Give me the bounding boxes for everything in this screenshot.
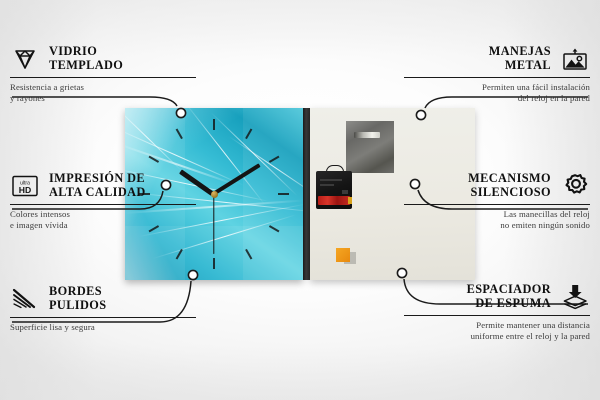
polished-edges-icon	[10, 284, 40, 314]
feature-title: IMPRESIÓN DE ALTA CALIDAD	[49, 172, 196, 199]
feature-divider	[404, 204, 590, 205]
feature-impresion-alta-calidad: ultra HD IMPRESIÓN DE ALTA CALIDAD Color…	[10, 171, 196, 230]
feature-description: Colores intensos e imagen vívida	[10, 209, 196, 230]
feature-description: Las manecillas del reloj no emiten ningú…	[404, 209, 590, 230]
feature-espaciador-espuma: ESPACIADOR DE ESPUMA Permite mantener un…	[404, 282, 590, 341]
feature-description: Permite mantener una distancia uniforme …	[404, 320, 590, 341]
svg-text:HD: HD	[19, 185, 31, 195]
diamond-icon	[10, 44, 40, 74]
gear-icon	[560, 171, 590, 201]
feature-divider	[10, 317, 196, 318]
feature-mecanismo-silencioso: MECANISMO SILENCIOSO Las manecillas del …	[404, 171, 590, 230]
feature-divider	[404, 315, 590, 316]
feature-title: MANEJAS METAL	[404, 45, 551, 72]
feature-title: MECANISMO SILENCIOSO	[404, 172, 551, 199]
feature-title: ESPACIADOR DE ESPUMA	[404, 283, 551, 310]
feature-manejas-metal: MANEJAS METAL Permiten una fácil instala…	[404, 44, 590, 103]
feature-vidrio-templado: VIDRIO TEMPLADO Resistencia a grietas y …	[10, 44, 196, 103]
picture-hanger-icon	[560, 44, 590, 74]
feature-divider	[10, 77, 196, 78]
connector-dot-vidrio-templado	[176, 108, 185, 117]
connector-dot-espaciador	[397, 268, 406, 277]
foam-spacer-icon	[560, 282, 590, 312]
connector-dot-manejas-metal	[416, 110, 425, 119]
feature-description: Superficie lisa y segura	[10, 322, 196, 332]
feature-divider	[10, 204, 196, 205]
feature-divider	[404, 77, 590, 78]
feature-description: Permiten una fácil instalación del reloj…	[404, 82, 590, 103]
ultra-hd-icon: ultra HD	[10, 171, 40, 201]
feature-bordes-pulidos: BORDES PULIDOS Superficie lisa y segura	[10, 284, 196, 333]
product-infographic: VIDRIO TEMPLADO Resistencia a grietas y …	[0, 0, 600, 400]
connector-dot-bordes-pulidos	[188, 270, 197, 279]
feature-description: Resistencia a grietas y rayones	[10, 82, 196, 103]
feature-title: VIDRIO TEMPLADO	[49, 45, 196, 72]
feature-title: BORDES PULIDOS	[49, 285, 196, 312]
